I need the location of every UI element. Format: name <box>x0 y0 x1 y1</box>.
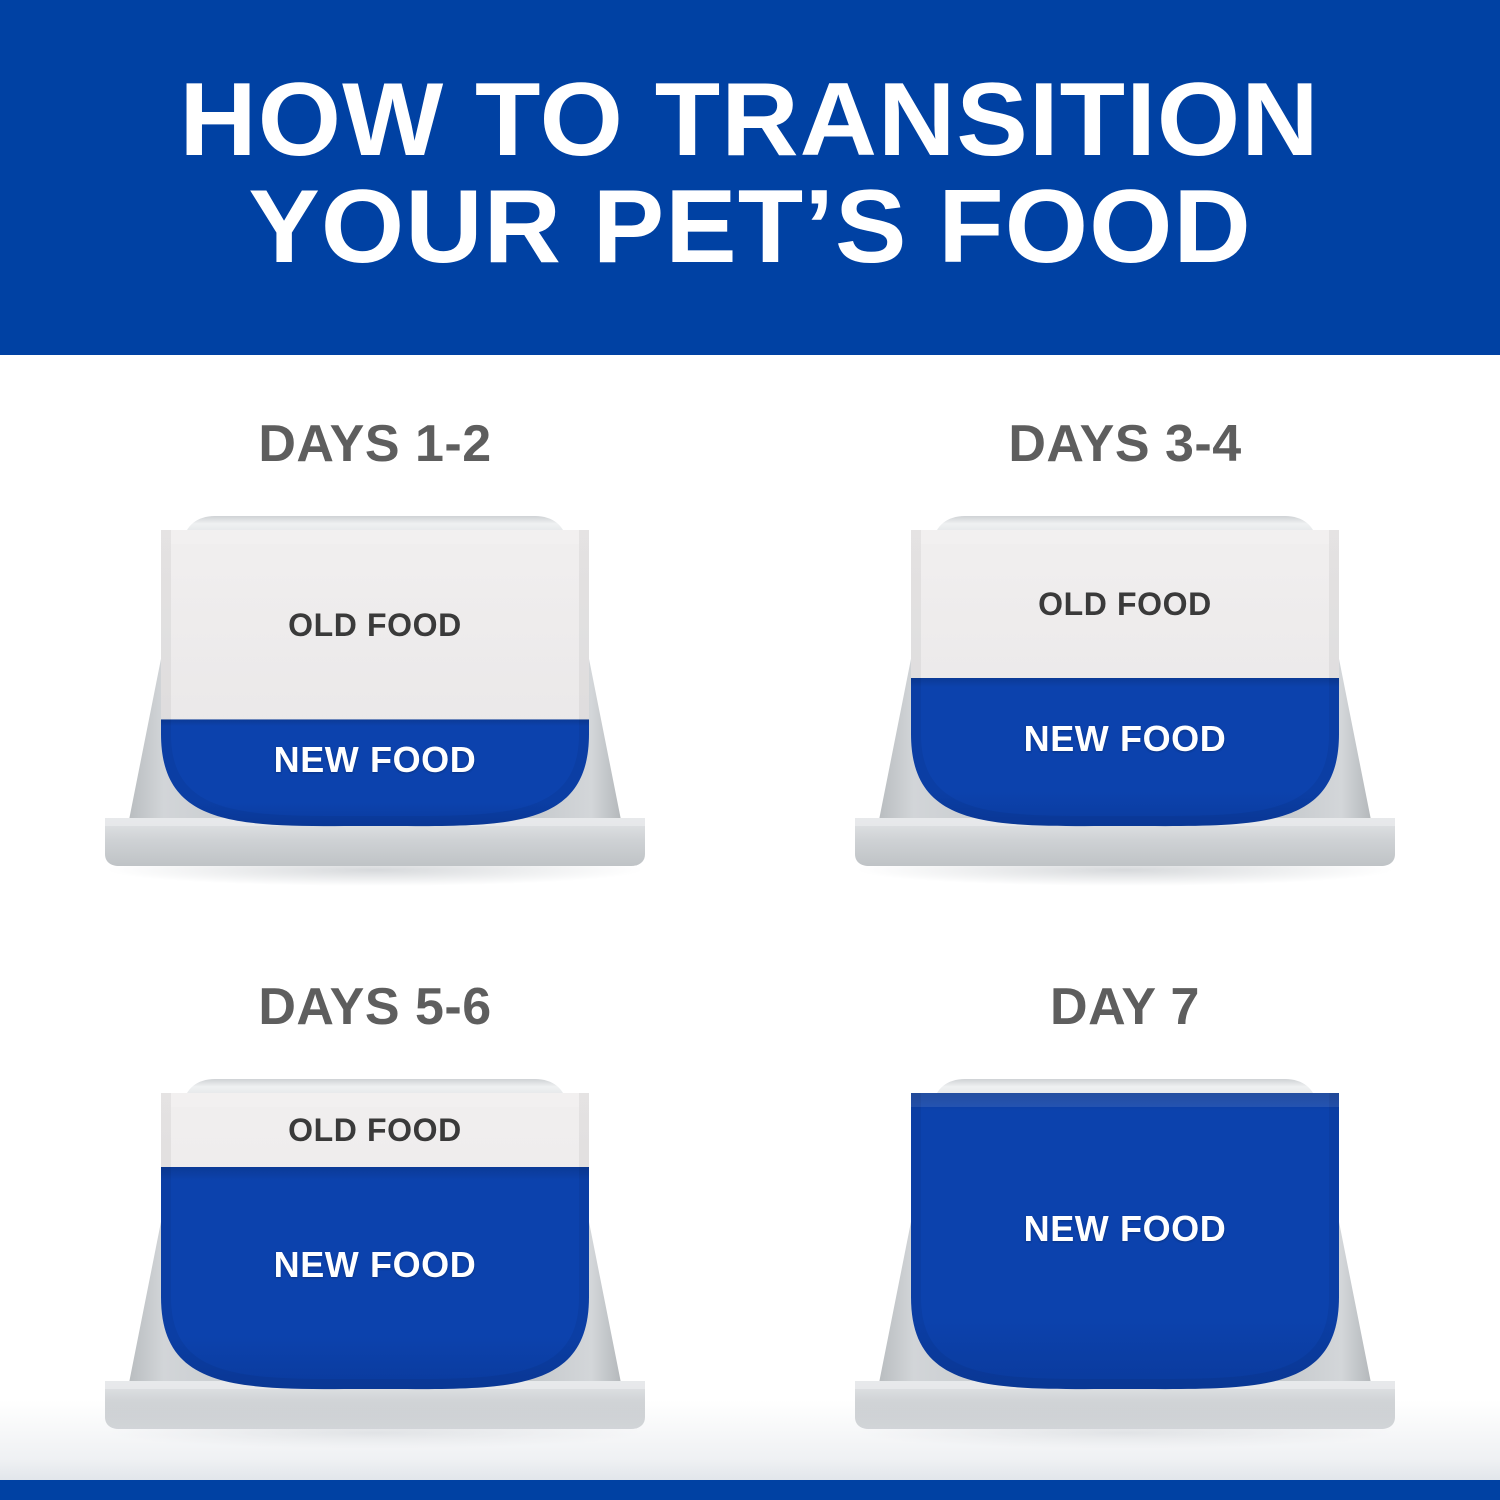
panel-title: DAYS 5-6 <box>258 981 491 1033</box>
panel-step-1: DAYS 1-2 <box>0 355 750 918</box>
bowl-illustration <box>65 1071 685 1471</box>
panel-step-2: DAYS 3-4 <box>750 355 1500 918</box>
footer-bar <box>0 1480 1500 1500</box>
bowl-illustration <box>815 1071 1435 1471</box>
food-well <box>911 530 1339 830</box>
bowl-illustration <box>65 508 685 908</box>
panel-title: DAYS 3-4 <box>1008 418 1241 470</box>
food-well <box>161 1093 589 1393</box>
bowl-illustration <box>815 508 1435 908</box>
food-well <box>161 530 589 830</box>
panel-title: DAY 7 <box>1050 981 1200 1033</box>
header-title-line-2: YOUR PET’S FOOD <box>248 174 1251 280</box>
new-food-fill <box>911 1093 1339 1393</box>
food-bowl: OLD FOODNEW FOOD <box>65 1071 685 1471</box>
panel-step-3: DAYS 5-6 <box>0 918 750 1481</box>
panel-title: DAYS 1-2 <box>258 418 491 470</box>
food-well <box>911 1093 1339 1393</box>
header-banner: HOW TO TRANSITION YOUR PET’S FOOD <box>0 0 1500 355</box>
food-bowl: OLD FOODNEW FOOD <box>65 508 685 908</box>
transition-steps-grid: DAYS 1-2 <box>0 355 1500 1480</box>
new-food-fill <box>161 1167 589 1393</box>
food-bowl: NEW FOOD <box>815 1071 1435 1471</box>
food-bowl: OLD FOODNEW FOOD <box>815 508 1435 908</box>
header-title-line-1: HOW TO TRANSITION <box>180 67 1320 173</box>
panel-step-4: DAY 7 <box>750 918 1500 1481</box>
